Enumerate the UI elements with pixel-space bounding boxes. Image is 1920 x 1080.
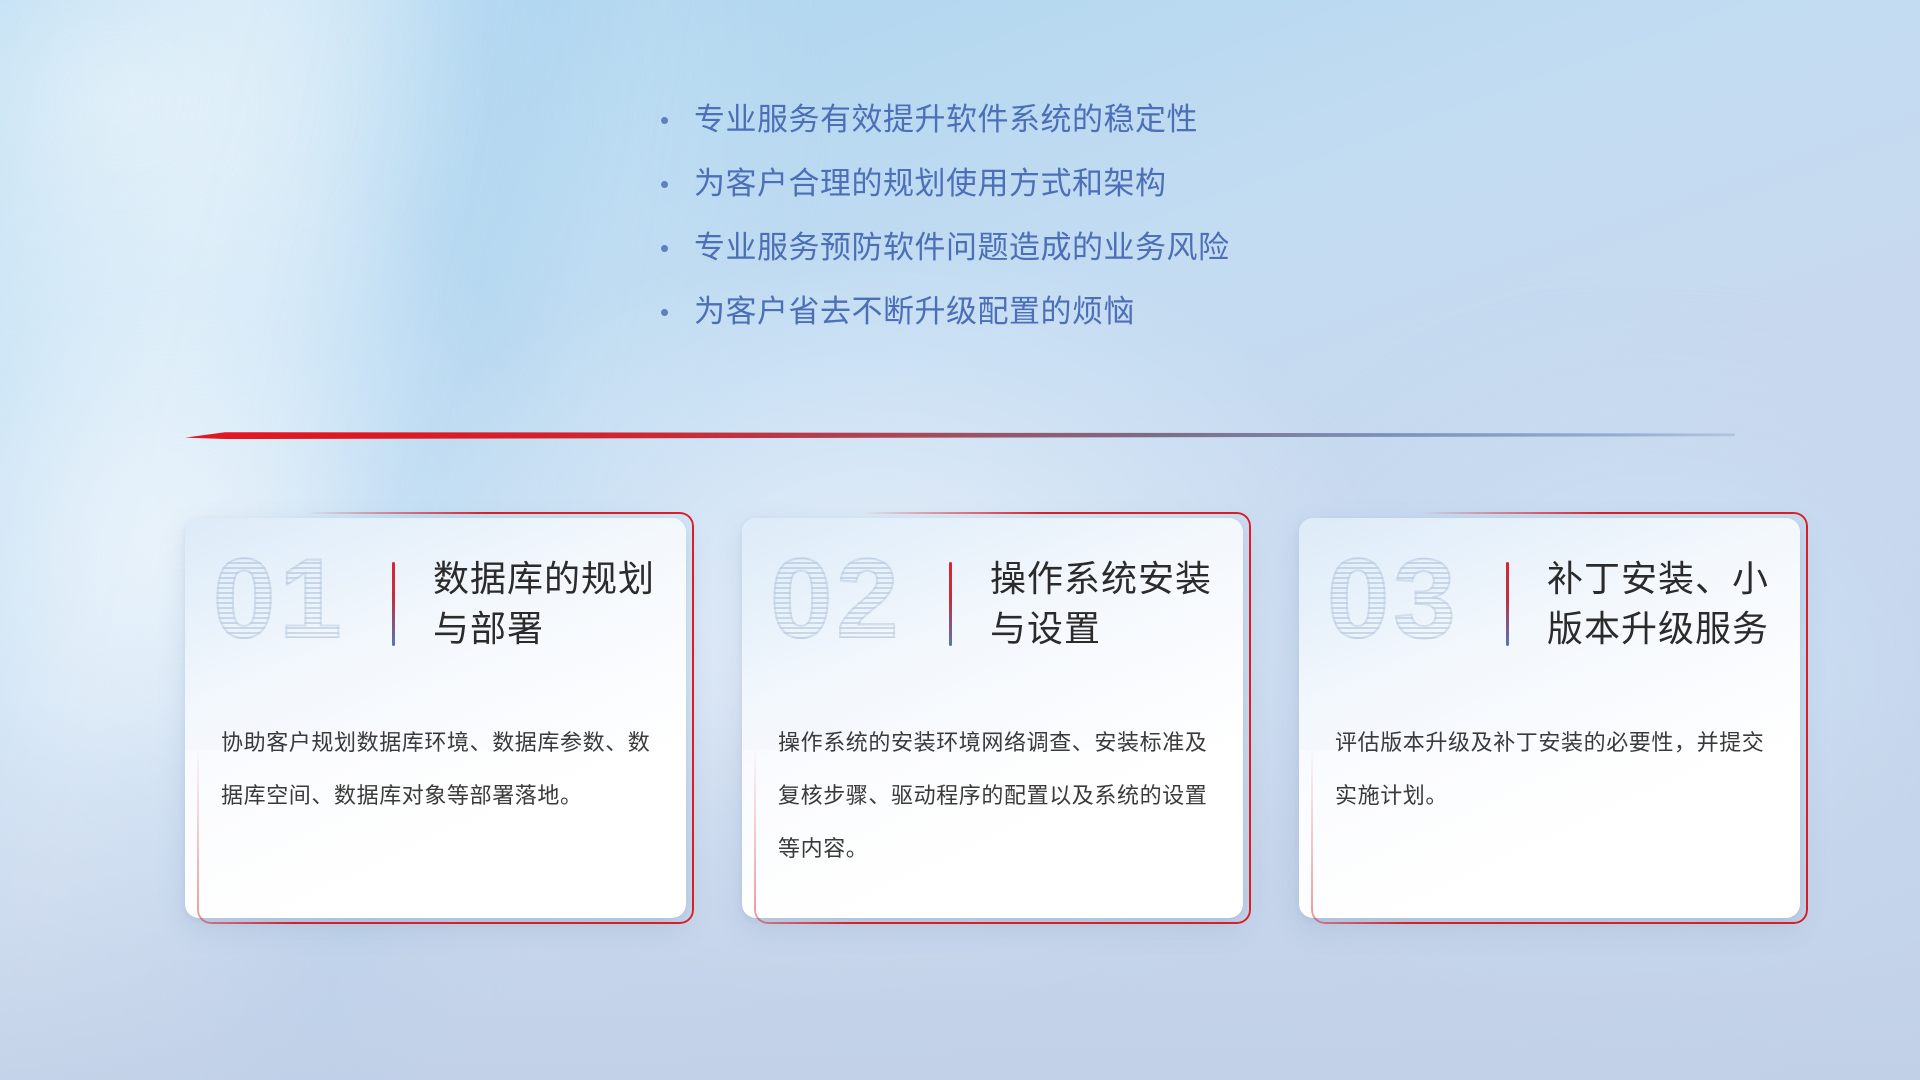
- list-item: • 为客户合理的规划使用方式和架构: [660, 162, 1560, 226]
- card-surface: 01 数据库的规划与部署 协助客户规划数据库环境、数据库参数、数据库空间、数据库…: [185, 518, 686, 918]
- bullet-dot-icon: •: [660, 162, 694, 206]
- card-title: 数据库的规划与部署: [433, 554, 660, 654]
- card-surface: 02 操作系统安装与设置 操作系统的安装环境网络调查、安装标准及复核步骤、驱动程…: [742, 518, 1243, 918]
- bullet-text: 为客户省去不断升级配置的烦恼: [694, 290, 1135, 334]
- bullet-text: 为客户合理的规划使用方式和架构: [694, 162, 1167, 206]
- card-title: 补丁安装、小版本升级服务: [1547, 554, 1774, 654]
- section-divider: [185, 426, 1735, 448]
- card-surface: 03 补丁安装、小版本升级服务 评估版本升级及补丁安装的必要性，并提交实施计划。: [1299, 518, 1800, 918]
- card-header: 03 补丁安装、小版本升级服务: [1299, 518, 1800, 700]
- tapered-divider-shape: [185, 426, 1735, 448]
- bullet-dot-icon: •: [660, 290, 694, 334]
- card-title-rule: [1506, 562, 1509, 646]
- bullet-dot-icon: •: [660, 226, 694, 270]
- benefit-bullet-list: • 专业服务有效提升软件系统的稳定性 • 为客户合理的规划使用方式和架构 • 专…: [660, 98, 1560, 354]
- card-title: 操作系统安装与设置: [990, 554, 1217, 654]
- service-card-02[interactable]: 02 操作系统安装与设置 操作系统的安装环境网络调查、安装标准及复核步骤、驱动程…: [742, 518, 1243, 918]
- list-item: • 为客户省去不断升级配置的烦恼: [660, 290, 1560, 354]
- bullet-dot-icon: •: [660, 98, 694, 142]
- list-item: • 专业服务有效提升软件系统的稳定性: [660, 98, 1560, 162]
- list-item: • 专业服务预防软件问题造成的业务风险: [660, 226, 1560, 290]
- card-index-number: 03: [1327, 544, 1487, 654]
- card-header: 02 操作系统安装与设置: [742, 518, 1243, 700]
- card-description: 协助客户规划数据库环境、数据库参数、数据库空间、数据库对象等部署落地。: [221, 716, 654, 822]
- bullet-text: 专业服务预防软件问题造成的业务风险: [694, 226, 1230, 270]
- card-title-rule: [949, 562, 952, 646]
- card-header: 01 数据库的规划与部署: [185, 518, 686, 700]
- service-card-list: 01 数据库的规划与部署 协助客户规划数据库环境、数据库参数、数据库空间、数据库…: [185, 518, 1800, 928]
- bullet-text: 专业服务有效提升软件系统的稳定性: [694, 98, 1198, 142]
- service-card-01[interactable]: 01 数据库的规划与部署 协助客户规划数据库环境、数据库参数、数据库空间、数据库…: [185, 518, 686, 918]
- card-index-number: 01: [213, 544, 373, 654]
- card-description: 评估版本升级及补丁安装的必要性，并提交实施计划。: [1335, 716, 1768, 822]
- card-title-rule: [392, 562, 395, 646]
- card-description: 操作系统的安装环境网络调查、安装标准及复核步骤、驱动程序的配置以及系统的设置等内…: [778, 716, 1211, 875]
- card-index-number: 02: [770, 544, 930, 654]
- service-card-03[interactable]: 03 补丁安装、小版本升级服务 评估版本升级及补丁安装的必要性，并提交实施计划。: [1299, 518, 1800, 918]
